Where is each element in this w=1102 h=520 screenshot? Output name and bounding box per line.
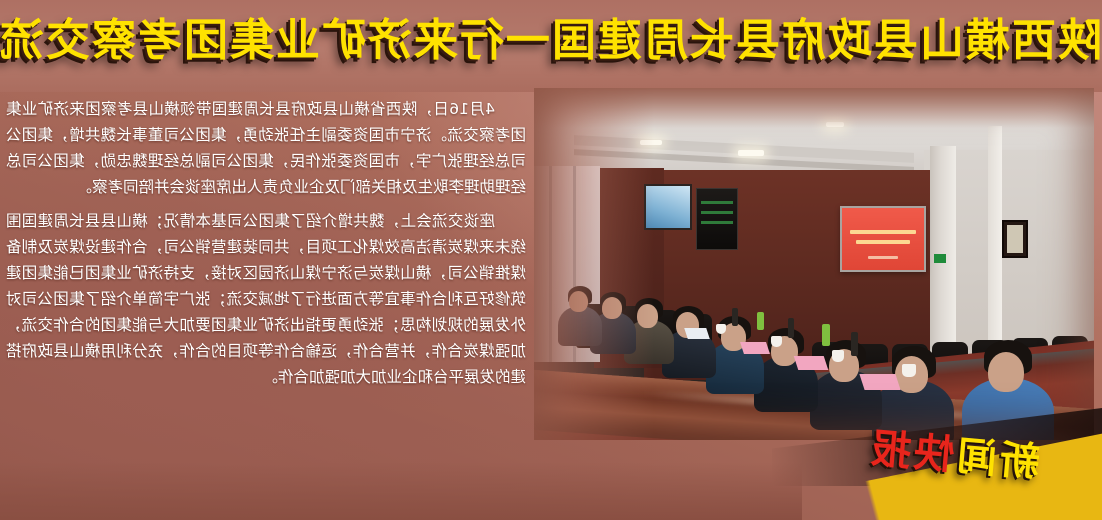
attendee-head [637,304,658,328]
water-bottle [732,308,738,326]
stamp-text-bulletin: 快报 [866,426,956,479]
conference-room-photo [534,88,1094,440]
teacup [771,336,782,347]
water-bottle [851,332,858,356]
wall-display [644,184,692,230]
plant-pot [757,312,764,330]
attendee [558,306,602,346]
ceiling-light [738,150,764,156]
poster-bottom-gradient [0,462,802,520]
news-bulletin-poster: 陕西横山县政府县长周建国一行来济矿业集团考察交流 4月16日，陕西省横山县政府县… [0,0,1102,520]
poster-title: 陕西横山县政府县长周建国一行来济矿业集团考察交流 [0,10,1102,72]
teacup [902,364,916,377]
attendee-head [988,352,1024,392]
exit-sign-icon [934,254,946,263]
article-body: 4月16日，陕西省横山县政府县长周建国带领横山县考察团来济矿业集团考察交流。济宁… [6,96,526,398]
document-paper [684,328,710,339]
document-paper [859,374,900,390]
article-paragraph-2: 座谈交流会上，魏共增介绍了集团公司基本情况；横山县县长周建国围绕未来煤炭清洁高效… [6,208,526,390]
ceiling-light [640,140,662,145]
equipment-rack [696,188,738,250]
article-paragraph-1: 4月16日，陕西省横山县政府县长周建国带领横山县考察团来济矿业集团考察交流。济宁… [6,96,526,200]
teacup [716,324,726,334]
attendee-head [569,291,588,312]
document-paper [794,356,829,370]
plant-pot [822,324,830,346]
stamp-text-news: 新闻 [952,433,1042,486]
projection-screen [840,206,926,272]
attendee-head [602,297,622,319]
document-paper [740,342,770,354]
teacup [832,350,844,362]
ceiling-light [826,122,844,127]
window-mullion [549,166,552,362]
water-bottle [788,318,794,338]
wall-clock-icon [1002,220,1028,258]
